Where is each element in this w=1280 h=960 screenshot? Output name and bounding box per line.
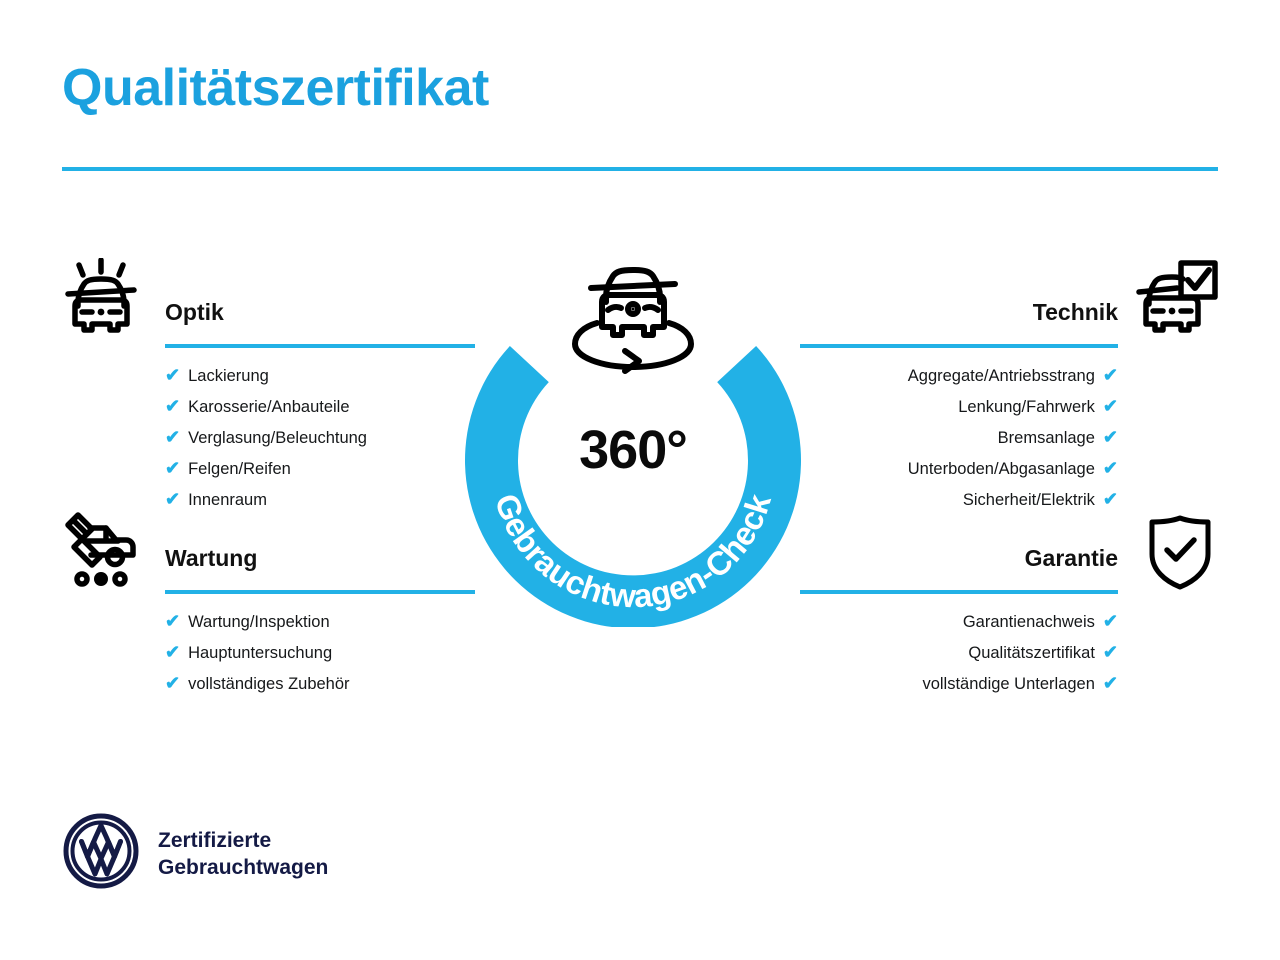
list-item-label: Karosserie/Anbauteile — [188, 392, 349, 422]
badge-curved-label: Gebrauchtwagen-Check — [488, 489, 778, 614]
section-wartung-list: ✔Wartung/Inspektion ✔Hauptuntersuchung ✔… — [165, 606, 475, 699]
list-item-label: Innenraum — [188, 485, 267, 515]
check-icon: ✔ — [1103, 668, 1118, 698]
list-item: ✔Lackierung — [165, 360, 475, 391]
section-optik: Optik ✔Lackierung ✔Karosserie/Anbauteile… — [165, 296, 475, 515]
footer-logo-text: Zertifizierte Gebrauchtwagen — [158, 827, 328, 881]
check-icon: ✔ — [1103, 453, 1118, 483]
check-icon: ✔ — [165, 453, 180, 483]
section-garantie-header: Garantie — [800, 542, 1118, 594]
volkswagen-logo — [62, 812, 140, 895]
shield-check-icon — [1143, 512, 1217, 597]
section-optik-title: Optik — [165, 296, 475, 328]
footer-text-line1: Zertifizierte — [158, 827, 328, 854]
check-icon: ✔ — [165, 360, 180, 390]
section-garantie-divider — [800, 590, 1118, 594]
footer-logo-block: Zertifizierte Gebrauchtwagen — [62, 812, 328, 895]
car-checkbox-icon — [1133, 258, 1221, 345]
list-item: ✔Felgen/Reifen — [165, 453, 475, 484]
list-item: Aggregate/Antriebsstrang✔ — [800, 360, 1118, 391]
list-item-label: Felgen/Reifen — [188, 454, 291, 484]
list-item-label: Wartung/Inspektion — [188, 607, 330, 637]
section-optik-header: Optik — [165, 296, 475, 348]
list-item: ✔Innenraum — [165, 484, 475, 515]
check-icon: ✔ — [165, 668, 180, 698]
check-icon: ✔ — [165, 391, 180, 421]
check-icon: ✔ — [1103, 422, 1118, 452]
check-icon: ✔ — [165, 422, 180, 452]
list-item: vollständige Unterlagen✔ — [800, 668, 1118, 699]
list-item-label: vollständige Unterlagen — [922, 669, 1094, 699]
list-item-label: Sicherheit/Elektrik — [963, 485, 1095, 515]
section-optik-list: ✔Lackierung ✔Karosserie/Anbauteile ✔Verg… — [165, 360, 475, 515]
section-technik: Technik Aggregate/Antriebsstrang✔ Lenkun… — [800, 296, 1118, 515]
pen-car-service-icon — [58, 508, 144, 595]
list-item: Qualitätszertifikat✔ — [800, 637, 1118, 668]
list-item: Bremsanlage✔ — [800, 422, 1118, 453]
check-icon: ✔ — [1103, 637, 1118, 667]
list-item-label: Garantienachweis — [963, 607, 1095, 637]
section-technik-list: Aggregate/Antriebsstrang✔ Lenkung/Fahrwe… — [800, 360, 1118, 515]
section-technik-title: Technik — [800, 296, 1118, 328]
list-item: ✔Hauptuntersuchung — [165, 637, 475, 668]
list-item-label: vollständiges Zubehör — [188, 669, 349, 699]
list-item: Unterboden/Abgasanlage✔ — [800, 453, 1118, 484]
list-item-label: Unterboden/Abgasanlage — [908, 454, 1095, 484]
list-item: ✔Verglasung/Beleuchtung — [165, 422, 475, 453]
list-item-label: Bremsanlage — [998, 423, 1095, 453]
check-icon: ✔ — [1103, 606, 1118, 636]
list-item: ✔Wartung/Inspektion — [165, 606, 475, 637]
check-icon: ✔ — [1103, 484, 1118, 514]
check-icon: ✔ — [165, 606, 180, 636]
check-icon: ✔ — [1103, 391, 1118, 421]
car-rotation-360-icon — [575, 270, 691, 371]
list-item: Garantienachweis✔ — [800, 606, 1118, 637]
list-item-label: Aggregate/Antriebsstrang — [908, 361, 1095, 391]
section-wartung-header: Wartung — [165, 542, 475, 594]
list-item-label: Verglasung/Beleuchtung — [188, 423, 367, 453]
section-technik-divider — [800, 344, 1118, 348]
list-item-label: Hauptuntersuchung — [188, 638, 332, 668]
car-front-shine-icon — [58, 258, 144, 345]
section-wartung-divider — [165, 590, 475, 594]
list-item-label: Lackierung — [188, 361, 269, 391]
list-item-label: Qualitätszertifikat — [968, 638, 1095, 668]
check-icon: ✔ — [165, 484, 180, 514]
section-wartung: Wartung ✔Wartung/Inspektion ✔Hauptunters… — [165, 542, 475, 699]
section-optik-divider — [165, 344, 475, 348]
list-item: Lenkung/Fahrwerk✔ — [800, 391, 1118, 422]
section-garantie-title: Garantie — [800, 542, 1118, 574]
section-garantie: Garantie Garantienachweis✔ Qualitätszert… — [800, 542, 1118, 699]
check-icon: ✔ — [1103, 360, 1118, 390]
list-item: Sicherheit/Elektrik✔ — [800, 484, 1118, 515]
footer-text-line2: Gebrauchtwagen — [158, 854, 328, 881]
section-wartung-title: Wartung — [165, 542, 475, 574]
list-item-label: Lenkung/Fahrwerk — [958, 392, 1095, 422]
badge-360-gebrauchtwagen-check: Gebrauchtwagen-Check 360° — [447, 247, 819, 627]
list-item: ✔Karosserie/Anbauteile — [165, 391, 475, 422]
section-garantie-list: Garantienachweis✔ Qualitätszertifikat✔ v… — [800, 606, 1118, 699]
list-item: ✔vollständiges Zubehör — [165, 668, 475, 699]
section-technik-header: Technik — [800, 296, 1118, 348]
page-title: Qualitätszertifikat — [62, 60, 489, 117]
title-divider — [62, 167, 1218, 171]
check-icon: ✔ — [165, 637, 180, 667]
